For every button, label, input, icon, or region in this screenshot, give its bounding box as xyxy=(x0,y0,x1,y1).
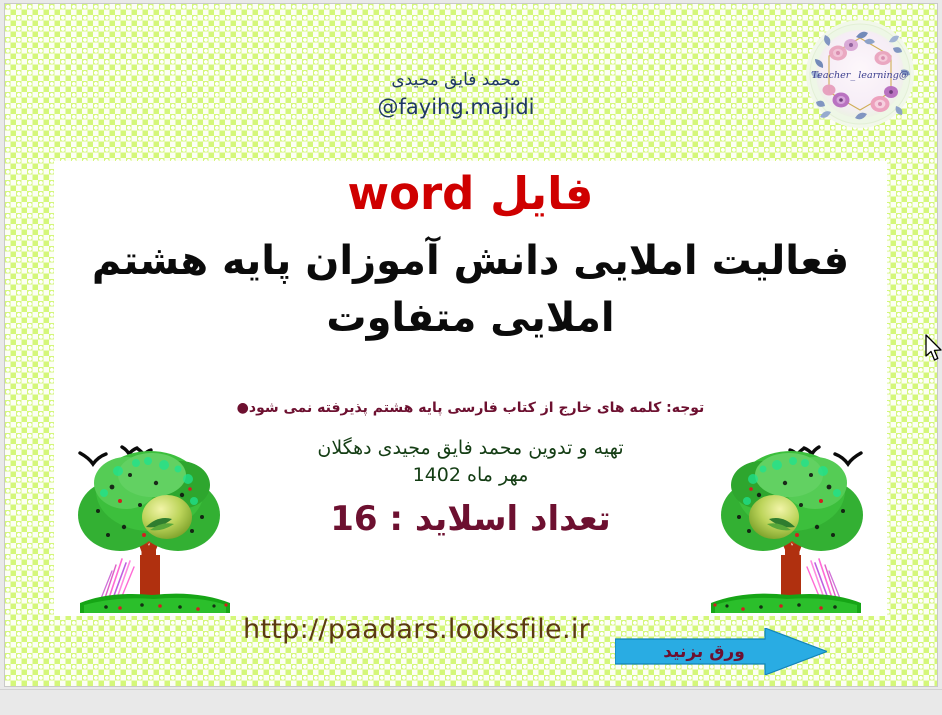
headline-line-1: فعالیت املایی دانش آموزان پایه هشتم xyxy=(64,233,877,290)
tree-canopy xyxy=(78,451,220,551)
apple-tree-icon-left xyxy=(60,431,250,616)
slide-content-card: فایل word فعالیت املایی دانش آموزان پایه… xyxy=(54,161,887,616)
slide-viewer: محمد فایق مجیدی @fayihg.majidi xyxy=(0,0,942,715)
author-handle: @fayihg.majidi xyxy=(341,94,571,121)
site-url-text: http://paadars.looksfile.ir xyxy=(243,614,590,645)
next-slide-arrow-button[interactable]: ورق بزنید xyxy=(615,628,827,675)
teacher-learning-logo: @Teacher_ learning xyxy=(801,18,919,130)
apple-fruit xyxy=(142,495,192,539)
author-contact-block: محمد فایق مجیدی @fayihg.majidi xyxy=(341,70,571,121)
apple-tree-icon-right xyxy=(691,431,881,616)
logo-text: @Teacher_ learning xyxy=(812,70,909,81)
author-name: محمد فایق مجیدی xyxy=(341,70,571,92)
headline-word-file: فایل word xyxy=(54,169,887,219)
grass-base xyxy=(80,594,230,613)
headline-main: فعالیت املایی دانش آموزان پایه هشتم املا… xyxy=(64,233,877,347)
slide-frame: محمد فایق مجیدی @fayihg.majidi xyxy=(4,3,938,687)
arrow-right-icon xyxy=(615,628,827,675)
headline-line-2: املایی متفاوت xyxy=(64,290,877,347)
warning-note: توجه: کلمه های خارج از کتاب فارسی پایه ه… xyxy=(54,400,887,417)
viewer-footer-bar xyxy=(0,689,942,715)
